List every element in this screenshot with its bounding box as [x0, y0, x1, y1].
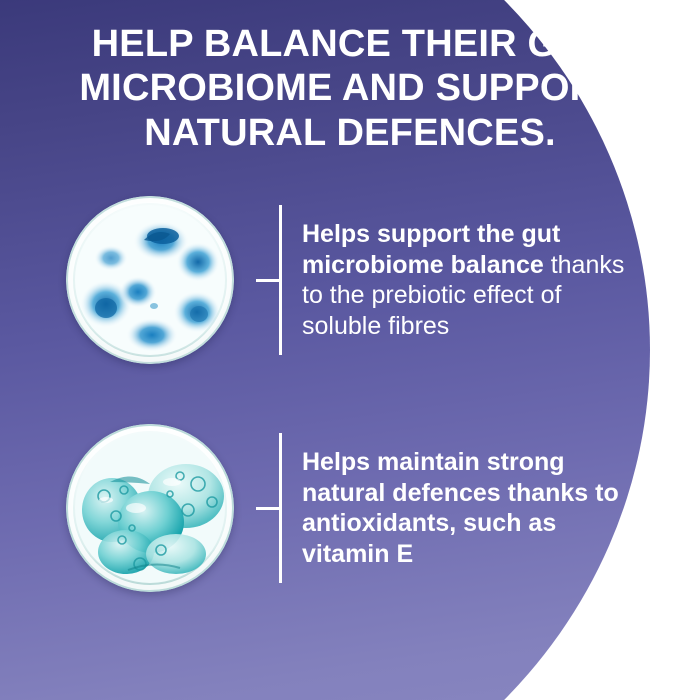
- divider-bracket-2: [254, 433, 290, 583]
- petri-dish-bacteria-colonies-icon: [66, 196, 234, 364]
- promo-graphic: Help balance their gut microbiome and su…: [0, 0, 700, 700]
- feature-row-gut-microbiome: Helps support the gut microbiome balance…: [66, 196, 632, 364]
- divider-horizontal-tick: [256, 279, 280, 282]
- feature-row-natural-defences: Helps maintain strong natural defences t…: [66, 424, 632, 592]
- petri-dish-gel-bubbles-icon: [66, 424, 234, 592]
- page-title: Help balance their gut microbiome and su…: [70, 22, 630, 155]
- feature-text-natural-defences: Helps maintain strong natural defences t…: [302, 447, 632, 569]
- feature-text-gut-microbiome: Helps support the gut microbiome balance…: [302, 219, 632, 341]
- feature-bold-text: Helps support the gut microbiome balance: [302, 220, 560, 279]
- divider-bracket-1: [254, 205, 290, 355]
- divider-horizontal-tick: [256, 507, 280, 510]
- feature-bold-text: Helps maintain strong natural defences t…: [302, 448, 619, 568]
